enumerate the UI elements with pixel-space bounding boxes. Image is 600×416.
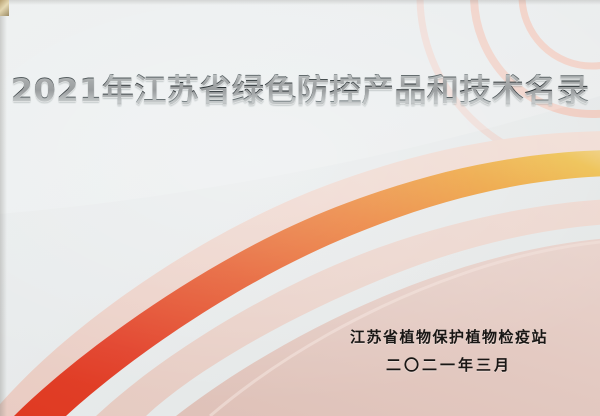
book-cover: 2021年江苏省绿色防控产品和技术名录 江苏省植物保护植物检疫站 二〇二一年三月	[0, 0, 600, 416]
publication-date: 二〇二一年三月	[350, 354, 548, 375]
publisher-organization: 江苏省植物保护植物检疫站	[350, 326, 548, 347]
imprint-block: 江苏省植物保护植物检疫站 二〇二一年三月	[350, 326, 548, 375]
cover-title: 2021年江苏省绿色防控产品和技术名录	[0, 74, 600, 108]
